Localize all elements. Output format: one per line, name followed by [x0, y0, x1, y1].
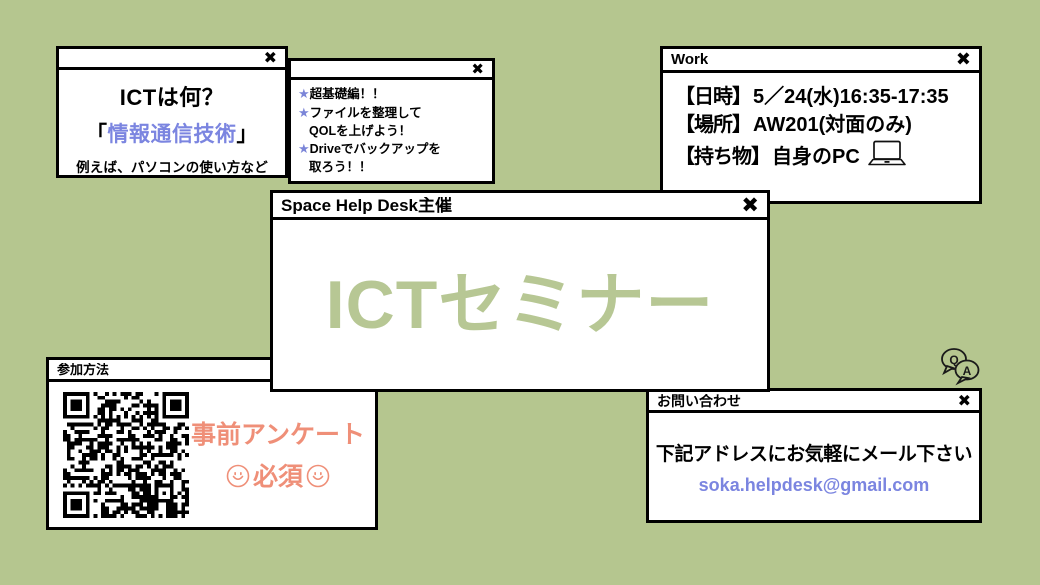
work-detail-row: 【持ち物】自身のPC	[675, 140, 969, 174]
contact-email[interactable]: soka.helpdesk@gmail.com	[649, 475, 979, 496]
window-title-contact: お問い合わせ	[657, 394, 741, 408]
work-detail-label: 【持ち物】	[675, 143, 770, 171]
work-detail-row: 【場所】AW201(対面のみ)	[675, 111, 969, 139]
survey-required-text: 必須	[253, 463, 303, 491]
about-term-line: 「情報通信技術」	[65, 118, 279, 148]
star-icon: ★	[298, 86, 310, 101]
smiley-icon-left	[226, 464, 250, 495]
close-icon[interactable]: ✖	[471, 62, 484, 77]
laptop-icon	[868, 140, 906, 174]
window-body-topics: ★超基礎編！！★ファイルを整理してQOLを上げよう！★Driveでバックアップを…	[288, 80, 495, 184]
star-icon: ★	[298, 141, 310, 156]
topic-list-item-label: ファイルを整理して	[310, 106, 422, 120]
star-icon: ★	[298, 105, 310, 120]
topic-list-item: 取ろう！！	[298, 159, 485, 177]
window-title-work: Work	[671, 52, 708, 67]
window-contact: お問い合わせ ✖ 下記アドレスにお気軽にメール下さい soka.helpdesk…	[646, 388, 982, 523]
survey-required-line: 必須	[189, 457, 367, 495]
work-detail-value: 自身のPC	[772, 143, 860, 171]
titlebar-about-ict[interactable]: ✖	[56, 46, 288, 70]
window-body-work: 【日時】5／24(水)16:35-17:35【場所】AW201(対面のみ)【持ち…	[660, 73, 982, 204]
quote-close: 」	[237, 123, 259, 146]
work-detail-label: 【場所】	[675, 111, 751, 139]
topic-list-item-label: QOLを上げよう！	[309, 124, 411, 138]
qa-answer-letter: A	[963, 364, 972, 378]
quote-open: 「	[86, 123, 108, 146]
qa-question-letter: Q	[949, 353, 958, 367]
work-detail-rows: 【日時】5／24(水)16:35-17:35【場所】AW201(対面のみ)【持ち…	[675, 83, 969, 174]
smiley-icon-right	[306, 464, 330, 495]
work-detail-label: 【日時】	[675, 83, 751, 111]
topic-list-item: ★超基礎編！！	[298, 85, 485, 104]
topic-list-item-label: 取ろう！！	[309, 160, 372, 174]
window-topics: ✖ ★超基礎編！！★ファイルを整理してQOLを上げよう！★Driveでバックアッ…	[288, 58, 495, 184]
survey-label: 事前アンケート	[189, 415, 367, 451]
topic-list-item: ★ファイルを整理して	[298, 104, 485, 123]
window-main-banner: Space Help Desk主催 ✖ ICTセミナー	[270, 190, 770, 392]
qr-code-icon[interactable]	[63, 392, 189, 518]
topic-list-item-label: 超基礎編！！	[310, 87, 385, 101]
window-body-about-ict: ICTは何？ 「情報通信技術」 例えば、パソコンの使い方など	[56, 70, 288, 178]
topic-list-item: QOLを上げよう！	[298, 123, 485, 141]
window-body-contact: 下記アドレスにお気軽にメール下さい soka.helpdesk@gmail.co…	[646, 413, 982, 523]
seminar-headline: ICTセミナー	[326, 271, 715, 339]
window-title-how-to-join: 参加方法	[57, 363, 109, 376]
close-icon[interactable]: ✖	[264, 50, 277, 66]
about-term: 情報通信技術	[108, 123, 237, 146]
close-icon[interactable]: ✖	[741, 195, 759, 216]
close-icon[interactable]: ✖	[956, 51, 971, 69]
window-body-how-to-join: 事前アンケート 必須	[46, 382, 378, 530]
work-detail-row: 【日時】5／24(水)16:35-17:35	[675, 83, 969, 111]
window-about-ict: ✖ ICTは何？ 「情報通信技術」 例えば、パソコンの使い方など	[56, 46, 288, 178]
window-body-main: ICTセミナー	[270, 220, 770, 392]
window-work-details: Work ✖ 【日時】5／24(水)16:35-17:35【場所】AW201(対…	[660, 46, 982, 204]
window-title-main: Space Help Desk主催	[281, 197, 452, 214]
about-example: 例えば、パソコンの使い方など	[65, 156, 279, 176]
titlebar-topics[interactable]: ✖	[288, 58, 495, 80]
titlebar-work[interactable]: Work ✖	[660, 46, 982, 73]
contact-instruction: 下記アドレスにお気軽にメール下さい	[649, 439, 979, 466]
topic-list-item-label: Driveでバックアップを	[310, 142, 441, 156]
titlebar-main[interactable]: Space Help Desk主催 ✖	[270, 190, 770, 220]
work-detail-value: 5／24(水)16:35-17:35	[753, 83, 949, 111]
survey-callout: 事前アンケート 必須	[189, 415, 367, 495]
close-icon[interactable]: ✖	[958, 393, 971, 409]
poster-canvas: ✖ ICTは何？ 「情報通信技術」 例えば、パソコンの使い方など ✖ ★超基礎編…	[0, 0, 1040, 585]
about-heading: ICTは何？	[65, 80, 279, 112]
work-detail-value: AW201(対面のみ)	[753, 111, 912, 139]
topic-list-item: ★Driveでバックアップを	[298, 140, 485, 159]
topic-list: ★超基礎編！！★ファイルを整理してQOLを上げよう！★Driveでバックアップを…	[298, 85, 485, 177]
qa-bubbles-decoration: Q A	[936, 345, 984, 392]
